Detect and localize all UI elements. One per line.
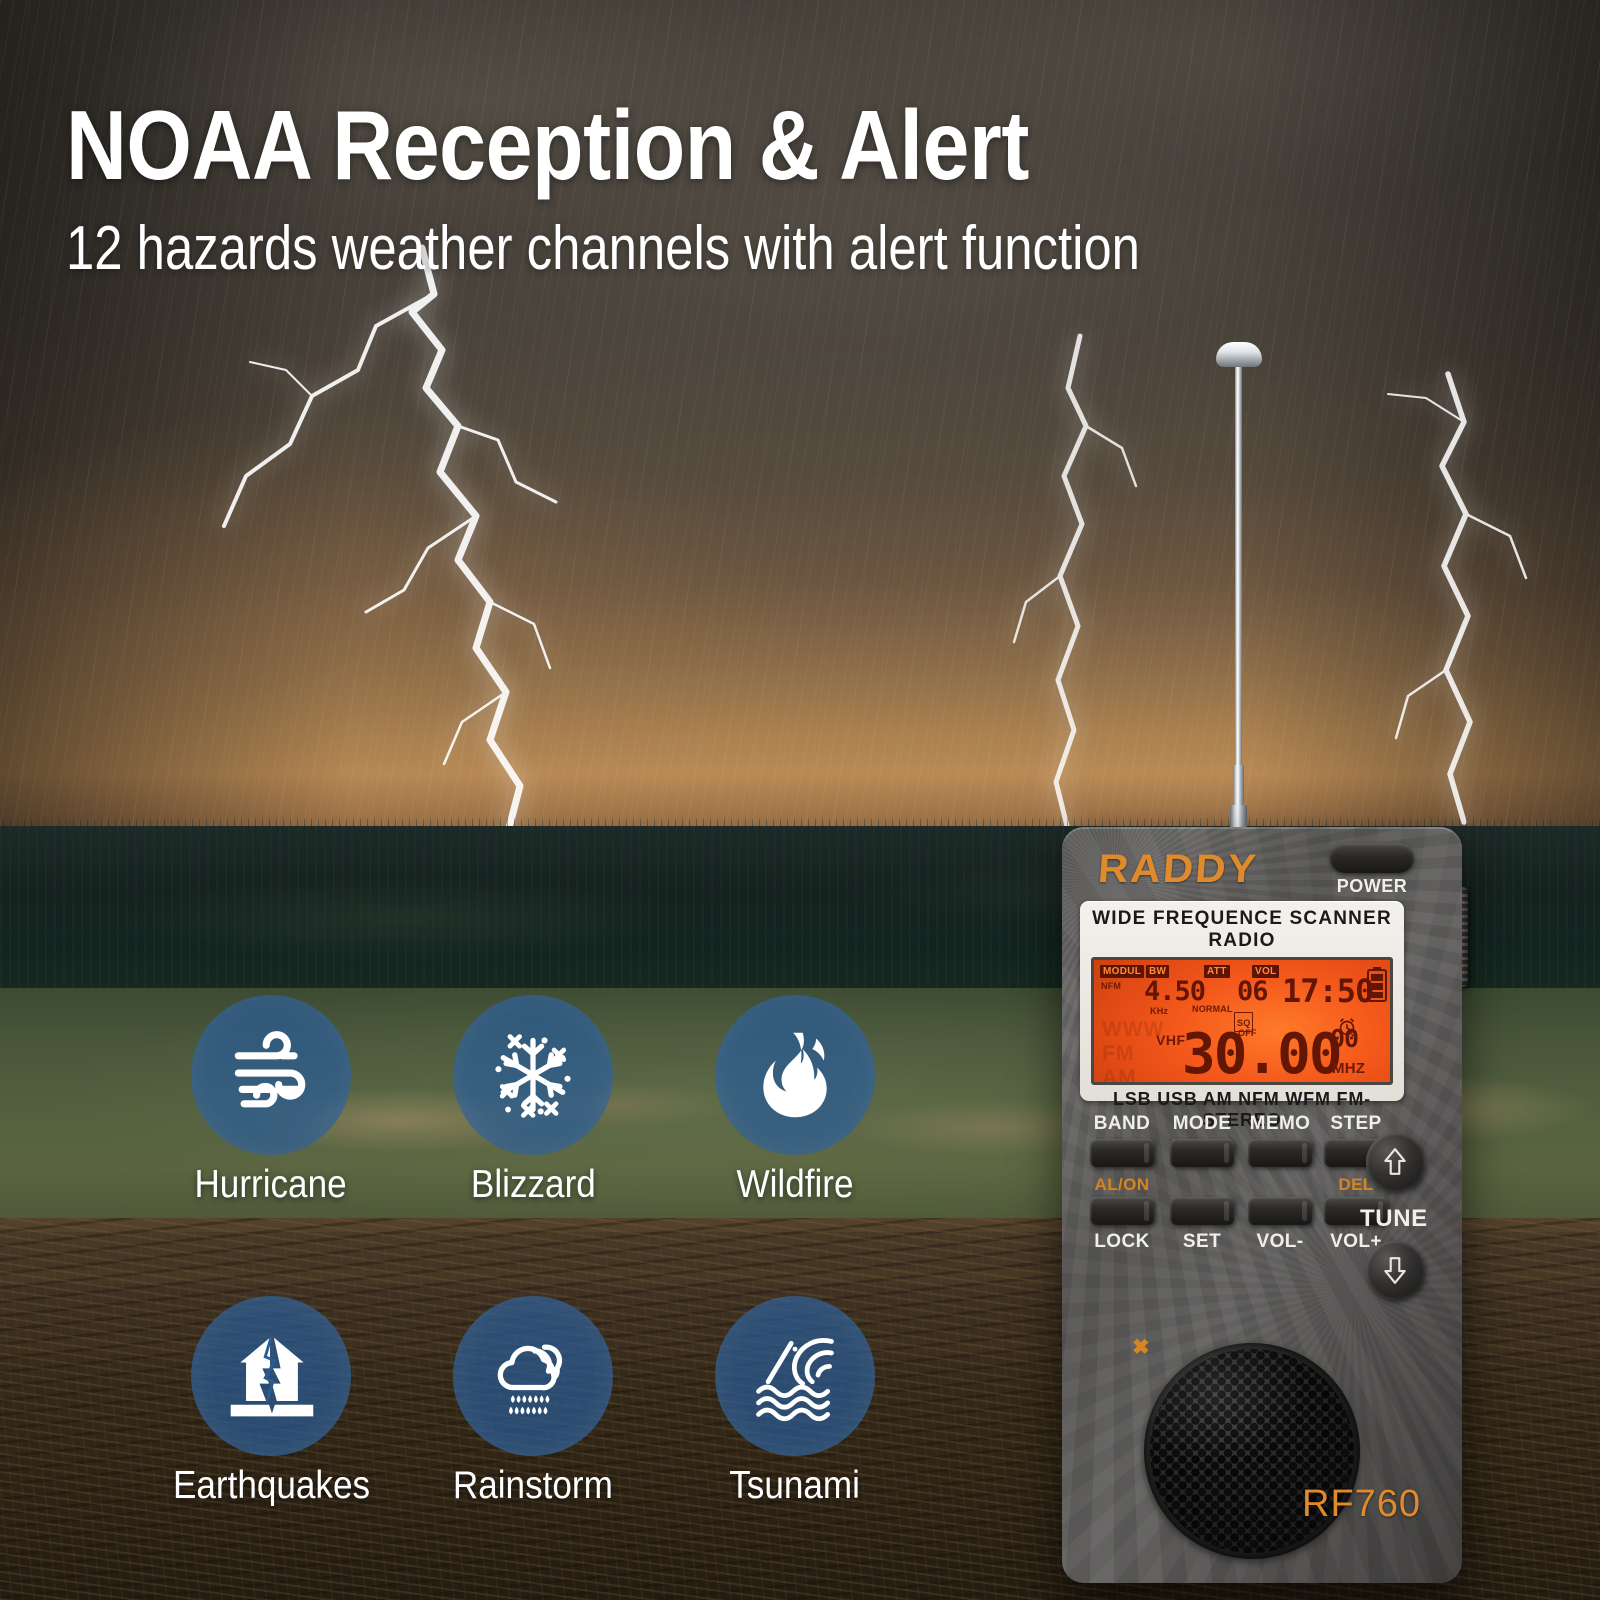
hazard-label: Earthquakes — [172, 1466, 369, 1507]
wave-icon — [747, 1328, 843, 1424]
button-label-vol-down: VOL- — [1240, 1231, 1320, 1253]
antenna-tip — [1216, 342, 1262, 367]
hazard-icon-badge — [191, 995, 351, 1155]
hazard-label: Tsunami — [730, 1466, 861, 1507]
hazard-icon-badge — [191, 1296, 351, 1456]
hazard-item-hurricane[interactable]: Hurricane — [140, 995, 402, 1206]
hazard-item-blizzard[interactable]: Blizzard — [402, 995, 664, 1206]
lock-button[interactable] — [1090, 1197, 1154, 1225]
lcd-tag-modul: MODUL — [1100, 965, 1144, 978]
hazard-icon-badge — [715, 995, 875, 1155]
hazard-label: Rainstorm — [453, 1466, 613, 1507]
hazard-item-wildfire[interactable]: Wildfire — [664, 995, 926, 1206]
hazard-icon-badge — [453, 995, 613, 1155]
arrow-up-icon — [1382, 1147, 1408, 1177]
tune-down-button[interactable] — [1366, 1241, 1424, 1299]
lcd-frequency-decimals: 00 — [1330, 1024, 1358, 1053]
hazard-row-top: Hurricane — [140, 995, 930, 1206]
lcd-clock: 17:50 — [1282, 972, 1373, 1010]
lcd-frequency: 30.00 — [1182, 1022, 1341, 1085]
tune-label: TUNE — [1360, 1205, 1428, 1233]
volume-down-button[interactable] — [1248, 1197, 1312, 1225]
headline-block: NOAA Reception & Alert 12 hazards weathe… — [66, 96, 1486, 280]
lightning-bolt-left — [190, 230, 710, 850]
tune-up-button[interactable] — [1366, 1133, 1424, 1191]
page-title: NOAA Reception & Alert — [66, 96, 1287, 194]
power-button-label: POWER — [1330, 876, 1414, 897]
mode-button[interactable] — [1170, 1139, 1234, 1167]
rain-cloud-icon — [485, 1328, 581, 1424]
button-label-memo: MEMO — [1240, 1113, 1320, 1135]
model-number: RF760 — [1302, 1483, 1421, 1526]
button-label-band: BAND — [1082, 1113, 1162, 1135]
lcd-volume-value: 06 — [1237, 976, 1268, 1007]
lcd-screen: WWWFMAM MODUL BW ATT VOL NFM 4.50 KHz NO… — [1091, 957, 1393, 1085]
battery-icon — [1366, 967, 1388, 1003]
speaker-grille — [1144, 1343, 1360, 1559]
antenna-rod[interactable] — [1235, 360, 1242, 822]
lcd-top-title: WIDE FREQUENCE SCANNER RADIO — [1088, 908, 1396, 952]
hazard-item-earthquakes[interactable]: Earthquakes — [140, 1296, 402, 1507]
hazard-item-rainstorm[interactable]: Rainstorm — [402, 1296, 664, 1507]
hazard-icon-grid: Hurricane — [140, 995, 930, 1507]
button-label-set: SET — [1162, 1231, 1242, 1253]
flame-icon — [747, 1027, 843, 1123]
hazard-item-tsunami[interactable]: Tsunami — [664, 1296, 926, 1507]
hazard-icon-badge — [453, 1296, 613, 1456]
power-button[interactable] — [1330, 843, 1414, 873]
hazard-icon-badge — [715, 1296, 875, 1456]
page-subtitle: 12 hazards weather channels with alert f… — [66, 218, 1230, 280]
hazard-label: Blizzard — [471, 1165, 596, 1206]
button-label-step: STEP — [1316, 1113, 1396, 1135]
memo-button[interactable] — [1248, 1139, 1312, 1167]
radio-device: RADDY POWER WIDE FREQUENCE SCANNER RADIO… — [1048, 335, 1518, 1585]
arrow-down-icon — [1382, 1255, 1408, 1285]
set-button[interactable] — [1170, 1197, 1234, 1225]
lcd-ghost-segments: WWWFMAM — [1102, 1018, 1164, 1085]
band-button[interactable] — [1090, 1139, 1154, 1167]
lcd-frequency-unit: MHZ — [1332, 1060, 1365, 1077]
hazard-label: Hurricane — [195, 1165, 347, 1206]
lcd-bandwidth-unit: KHz — [1150, 1006, 1168, 1016]
wind-icon — [223, 1027, 319, 1123]
hazard-label: Wildfire — [736, 1165, 853, 1206]
hazard-row-bottom: Earthquakes — [140, 1296, 930, 1507]
lcd-tag-att: ATT — [1204, 965, 1230, 978]
lcd-modulation-value: NFM — [1101, 981, 1121, 991]
button-label-mode: MODE — [1162, 1113, 1242, 1135]
key-lock-icon: ✖ — [1132, 1335, 1150, 1360]
lcd-panel: WIDE FREQUENCE SCANNER RADIO WWWFMAM MOD… — [1080, 901, 1404, 1101]
lcd-att-value: NORMAL — [1192, 1004, 1233, 1014]
speaker-sheen — [1144, 1343, 1360, 1559]
button-label-lock: LOCK — [1082, 1231, 1162, 1253]
button-alt-label-alon: AL/ON — [1082, 1175, 1162, 1195]
lcd-bandwidth-value: 4.50 — [1144, 976, 1205, 1007]
brand-logo: RADDY — [1096, 847, 1259, 892]
cracked-house-icon — [223, 1328, 319, 1424]
snowflake-icon — [485, 1027, 581, 1123]
